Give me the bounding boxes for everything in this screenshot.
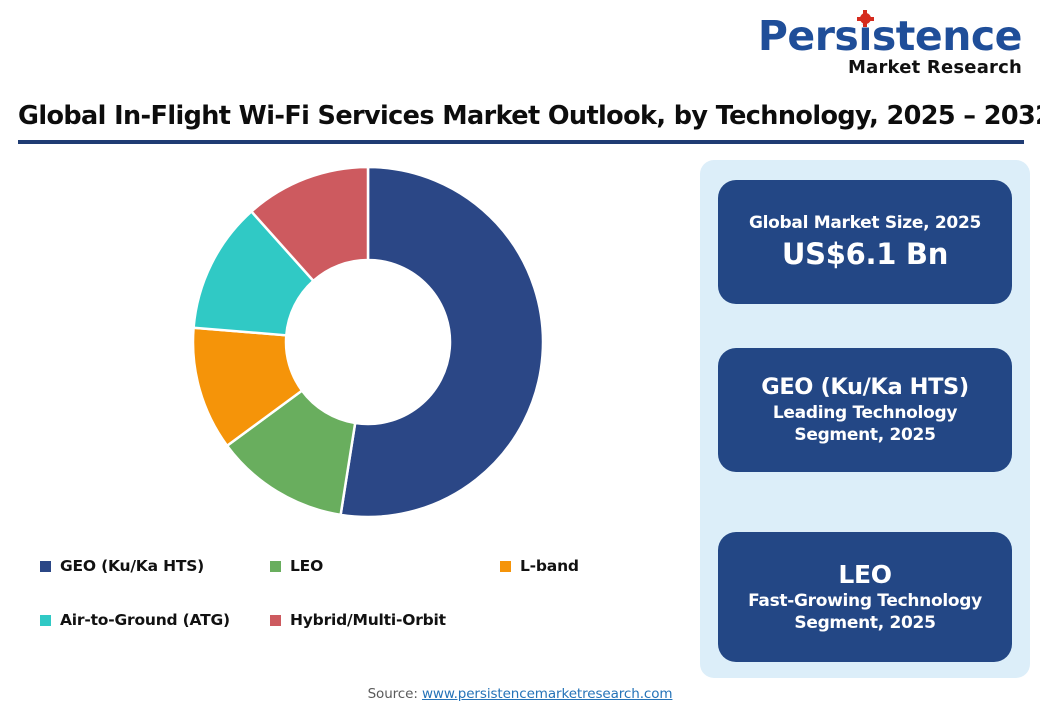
card-global-market-size-label: Global Market Size, 2025 <box>749 213 981 234</box>
page-title: Global In-Flight Wi-Fi Services Market O… <box>18 101 1024 131</box>
legend-item-air-to-ground-atg[interactable]: Air-to-Ground (ATG) <box>40 609 270 631</box>
card-global-market-size-value: US$6.1 Bn <box>782 237 948 271</box>
legend-item-leo[interactable]: LEO <box>270 555 500 577</box>
card-leading-segment: GEO (Ku/Ka HTS) Leading Technology Segme… <box>718 348 1012 472</box>
legend-label-hybrid-multi-orbit: Hybrid/Multi-Orbit <box>290 611 446 629</box>
logo-wordmark-text: Persistence <box>758 12 1022 60</box>
legend-item-l-band[interactable]: L-band <box>500 555 579 577</box>
legend-swatch-hybrid-multi-orbit <box>270 615 281 626</box>
source-prefix: Source: <box>368 686 422 702</box>
donut-chart-svg <box>0 150 690 550</box>
card-leading-segment-heading: GEO (Ku/Ka HTS) <box>761 374 968 400</box>
title-divider <box>18 140 1024 144</box>
company-logo: Persistence Market Research <box>758 16 1022 77</box>
legend-item-geo-ku-ka-hts[interactable]: GEO (Ku/Ka HTS) <box>40 555 270 577</box>
source-link[interactable]: www.persistencemarketresearch.com <box>422 686 672 702</box>
card-global-market-size: Global Market Size, 2025 US$6.1 Bn <box>718 180 1012 304</box>
card-leading-segment-line2: Segment, 2025 <box>794 425 935 446</box>
legend-row: Air-to-Ground (ATG) Hybrid/Multi-Orbit <box>40 602 660 638</box>
legend-item-hybrid-multi-orbit[interactable]: Hybrid/Multi-Orbit <box>270 609 446 631</box>
legend-swatch-air-to-ground-atg <box>40 615 51 626</box>
donut-chart <box>0 150 690 550</box>
card-fast-growing-segment-line2: Segment, 2025 <box>794 613 935 634</box>
card-leading-segment-line1: Leading Technology <box>773 403 957 424</box>
donut-slice-geo-ku-ka-hts[interactable] <box>341 167 543 517</box>
legend-label-leo: LEO <box>290 557 323 575</box>
legend-swatch-l-band <box>500 561 511 572</box>
highlights-panel: Global Market Size, 2025 US$6.1 Bn GEO (… <box>700 160 1030 678</box>
legend-label-l-band: L-band <box>520 557 579 575</box>
legend-swatch-geo-ku-ka-hts <box>40 561 51 572</box>
legend-swatch-leo <box>270 561 281 572</box>
infographic-page: Persistence Market Research Global In-Fl… <box>0 0 1040 720</box>
source-footer: Source: www.persistencemarketresearch.co… <box>0 686 1040 702</box>
chart-legend: GEO (Ku/Ka HTS) LEO L-band Air-to-Ground… <box>40 548 660 638</box>
card-fast-growing-segment-line1: Fast-Growing Technology <box>748 591 982 612</box>
legend-label-geo-ku-ka-hts: GEO (Ku/Ka HTS) <box>60 557 204 575</box>
legend-label-air-to-ground-atg: Air-to-Ground (ATG) <box>60 611 230 629</box>
card-fast-growing-segment: LEO Fast-Growing Technology Segment, 202… <box>718 532 1012 662</box>
logo-gear-dot-icon <box>860 13 871 24</box>
donut-slice-group <box>193 167 543 517</box>
card-fast-growing-segment-heading: LEO <box>838 560 891 589</box>
logo-tagline: Market Research <box>758 59 1022 77</box>
logo-wordmark: Persistence <box>758 16 1022 57</box>
legend-row: GEO (Ku/Ka HTS) LEO L-band <box>40 548 660 584</box>
